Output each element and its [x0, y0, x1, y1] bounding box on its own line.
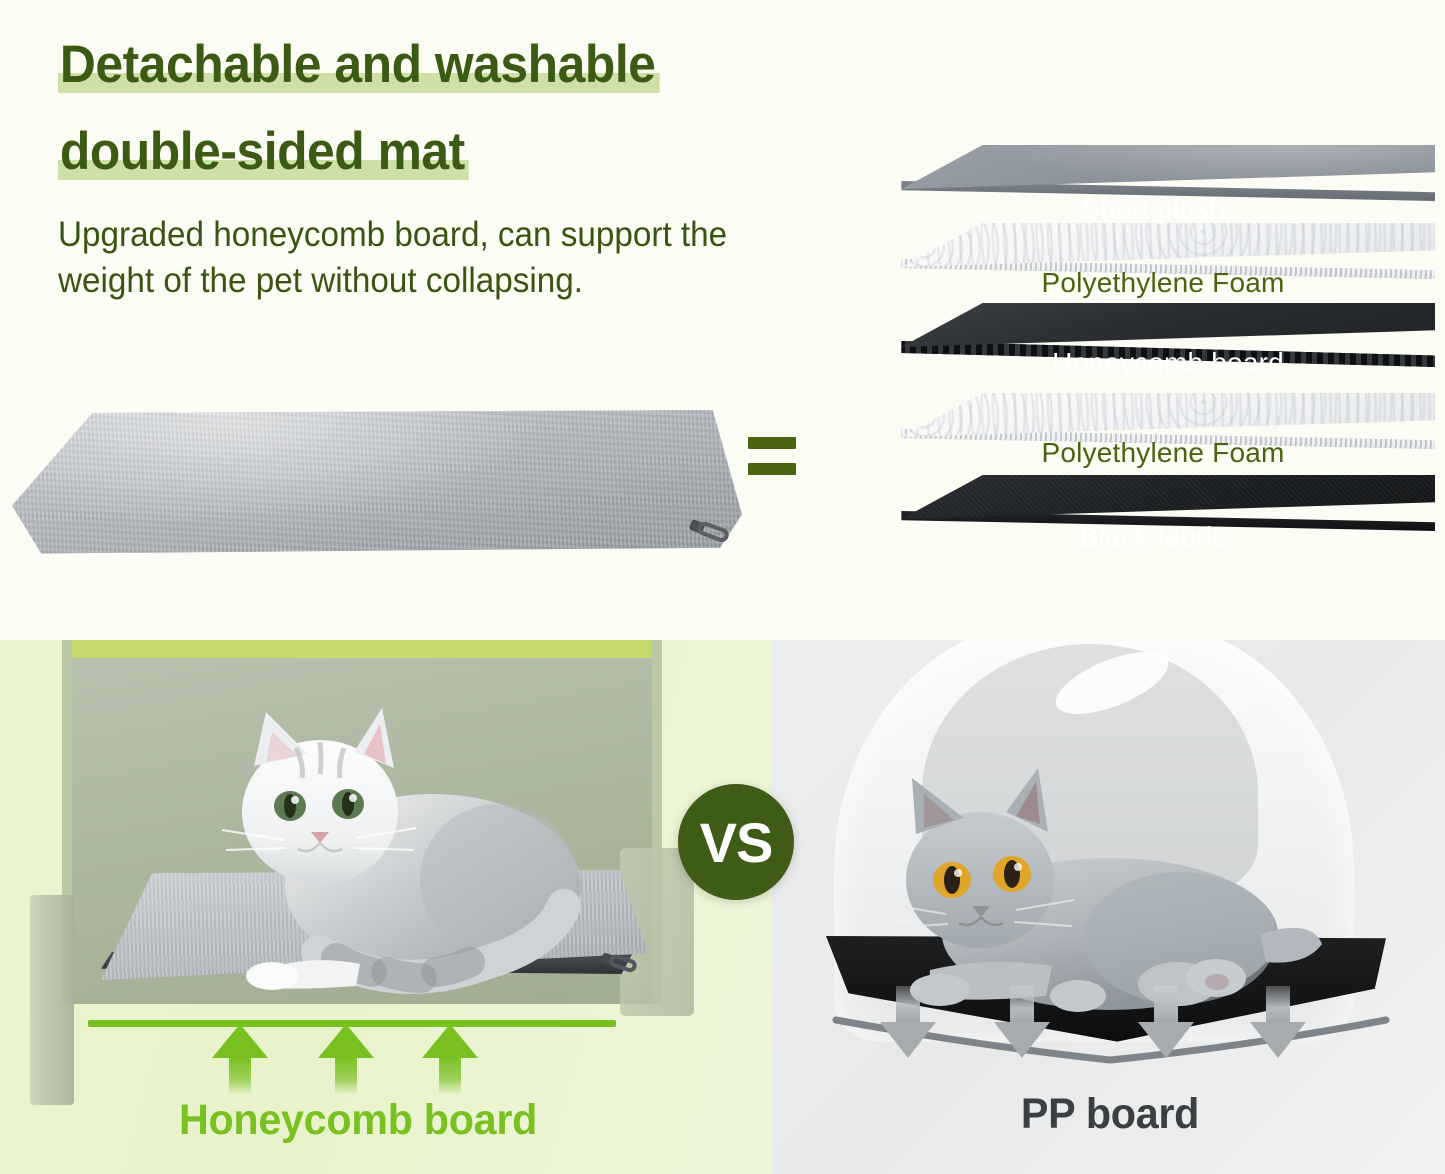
- arrow-stem: [1154, 986, 1178, 1026]
- layer-stack-diagram: Short plush Polyethylene Foam Honeycomb …: [855, 145, 1435, 575]
- equals-bar-bottom: [748, 463, 796, 475]
- layer-label-foam-bottom: Polyethylene Foam: [943, 437, 1383, 469]
- caption-honeycomb-board: Honeycomb board: [99, 1096, 617, 1145]
- title-line-1: Detachable and washable: [58, 38, 659, 91]
- arrow-head: [212, 1024, 268, 1058]
- layer-label-black-fabric: Black fabric: [943, 521, 1363, 553]
- layer-black-fabric: Black fabric: [855, 475, 1435, 533]
- arrow-down-icon: [994, 986, 1050, 1060]
- arrow-up-icon: [212, 1024, 268, 1092]
- layer-polyethylene-foam-top: Polyethylene Foam: [855, 223, 1435, 281]
- layer-label-short-plush: Short plush: [943, 193, 1363, 225]
- silver-tabby-cat-photo: [168, 700, 618, 1000]
- layer-label-foam-top: Polyethylene Foam: [943, 267, 1383, 299]
- layer-honeycomb-board: Honeycomb board: [855, 303, 1435, 375]
- equals-sign-icon: [748, 437, 796, 475]
- mat-fuzz-texture: [12, 410, 742, 555]
- layer-surface: [855, 475, 1435, 519]
- arrow-stem: [439, 1056, 461, 1094]
- arrow-down-icon: [1138, 986, 1194, 1060]
- arrow-stem: [1010, 986, 1034, 1026]
- arrow-head: [318, 1024, 374, 1058]
- layer-polyethylene-foam-bottom: Polyethylene Foam: [855, 393, 1435, 451]
- arrow-up-icon: [318, 1024, 374, 1092]
- arrow-head: [422, 1024, 478, 1058]
- caption-pp-board: PP board: [851, 1090, 1369, 1139]
- layer-surface: [855, 145, 1435, 189]
- arrow-down-icon: [880, 986, 936, 1060]
- subtitle-text: Upgraded honeycomb board, can support th…: [58, 212, 780, 304]
- downward-force-arrows: [846, 986, 1386, 1062]
- title-block: Detachable and washable double-sided mat: [58, 38, 858, 178]
- layer-surface: [855, 223, 1435, 267]
- arrow-head: [880, 1022, 936, 1058]
- arrow-stem: [335, 1056, 357, 1094]
- arrow-stem: [1266, 986, 1290, 1026]
- arrow-stem: [229, 1056, 251, 1094]
- arrow-up-icon: [422, 1024, 478, 1092]
- arrow-stem: [896, 986, 920, 1026]
- arrow-head: [994, 1022, 1050, 1058]
- arrow-head: [1250, 1022, 1306, 1058]
- arrow-down-icon: [1250, 986, 1306, 1060]
- top-section: Detachable and washable double-sided mat…: [0, 0, 1445, 640]
- upward-force-arrows: [88, 1024, 616, 1094]
- equals-bar-top: [748, 437, 796, 449]
- plush-mat-product: [12, 410, 742, 580]
- layer-label-honeycomb-board: Honeycomb board: [943, 347, 1393, 379]
- carrier-strap: [30, 895, 74, 1105]
- layer-surface: [855, 393, 1435, 437]
- grey-cat-photo: [860, 738, 1330, 1028]
- title-line-2: double-sided mat: [58, 125, 469, 178]
- arrow-head: [1138, 1022, 1194, 1058]
- vs-badge: VS: [678, 784, 794, 900]
- layer-surface: [855, 303, 1435, 347]
- infographic-page: Detachable and washable double-sided mat…: [0, 0, 1445, 1174]
- layer-short-plush: Short plush: [855, 145, 1435, 203]
